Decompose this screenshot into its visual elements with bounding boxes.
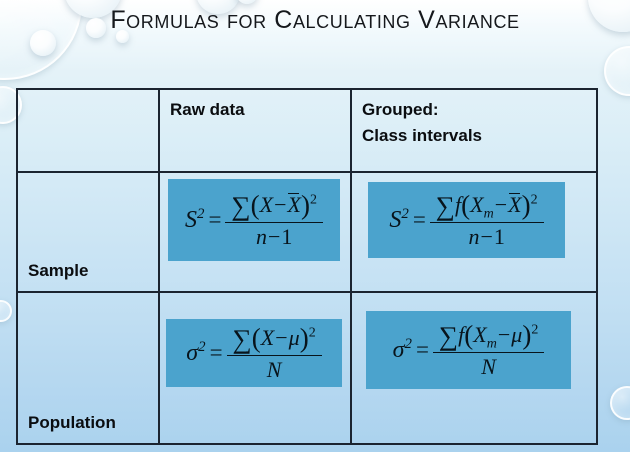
formula-sample-grouped-expression: S2 = ∑f(Xm−X)2 n−1 — [389, 191, 543, 249]
formula-numerator: ∑f(Xm−X)2 — [430, 191, 544, 224]
formula-denominator: n−1 — [250, 223, 298, 249]
formula-numerator: ∑(X−μ)2 — [227, 324, 322, 356]
decorative-bubble-icon — [604, 46, 630, 96]
table-row: Population σ2 = ∑(X−μ)2 N — [18, 293, 596, 443]
formula-denominator: N — [475, 353, 502, 379]
row-label-cell-population: Population — [18, 293, 160, 443]
row-label-cell-sample: Sample — [18, 173, 160, 291]
formula-equals: = — [415, 337, 433, 363]
formula-image-sample-grouped: S2 = ∑f(Xm−X)2 n−1 — [368, 182, 565, 258]
formula-image-population-grouped: σ2 = ∑f(Xm−μ)2 N — [366, 311, 571, 389]
formula-denominator: N — [261, 356, 288, 382]
formula-equals: = — [209, 340, 227, 366]
formula-population-grouped-expression: σ2 = ∑f(Xm−μ)2 N — [393, 321, 545, 379]
formula-fraction: ∑(X−μ)2 N — [227, 324, 322, 382]
formula-lhs: S2 — [185, 206, 207, 234]
formula-lhs: S2 — [389, 206, 411, 234]
variance-formulas-table: Raw data Grouped: Class intervals Sample… — [16, 88, 598, 445]
formula-denominator: n−1 — [463, 223, 511, 249]
formula-numerator: ∑f(Xm−μ)2 — [433, 321, 544, 354]
row-label-sample: Sample — [18, 261, 88, 291]
header-cell-corner — [18, 90, 160, 171]
row-label-population: Population — [18, 413, 116, 443]
formula-image-population-raw: σ2 = ∑(X−μ)2 N — [166, 319, 342, 387]
page-title: Formulas for Calculating Variance — [0, 6, 630, 35]
formula-fraction: ∑(X−X)2 n−1 — [225, 191, 323, 249]
formula-lhs: σ2 — [186, 339, 208, 367]
formula-fraction: ∑f(Xm−μ)2 N — [433, 321, 544, 379]
header-label-grouped: Grouped: Class intervals — [352, 90, 482, 171]
header-label-grouped-line2: Class intervals — [362, 123, 482, 149]
decorative-bubble-icon — [0, 300, 12, 322]
decorative-bubble-icon — [236, 0, 258, 4]
formula-lhs: σ2 — [393, 336, 415, 364]
table-row: Sample S2 = ∑(X−X)2 n−1 — [18, 173, 596, 293]
formula-population-raw-expression: σ2 = ∑(X−μ)2 N — [186, 324, 321, 382]
formula-image-sample-raw: S2 = ∑(X−X)2 n−1 — [168, 179, 340, 261]
header-label-raw-data: Raw data — [160, 90, 245, 171]
formula-numerator: ∑(X−X)2 — [225, 191, 323, 223]
formula-fraction: ∑f(Xm−X)2 n−1 — [430, 191, 544, 249]
table-header-row: Raw data Grouped: Class intervals — [18, 90, 596, 173]
formula-equals: = — [207, 207, 225, 233]
decorative-bubble-icon — [610, 386, 630, 420]
formula-equals: = — [412, 207, 430, 233]
header-cell-raw-data: Raw data — [160, 90, 352, 171]
formula-cell-sample-raw: S2 = ∑(X−X)2 n−1 — [160, 173, 352, 291]
header-cell-grouped: Grouped: Class intervals — [352, 90, 596, 171]
header-label-grouped-line1: Grouped: — [362, 97, 482, 123]
formula-cell-population-raw: σ2 = ∑(X−μ)2 N — [160, 293, 352, 443]
formula-cell-sample-grouped: S2 = ∑f(Xm−X)2 n−1 — [352, 173, 596, 291]
formula-cell-population-grouped: σ2 = ∑f(Xm−μ)2 N — [352, 293, 596, 443]
formula-sample-raw-expression: S2 = ∑(X−X)2 n−1 — [185, 191, 323, 249]
slide-canvas: Formulas for Calculating Variance Raw da… — [0, 0, 630, 452]
